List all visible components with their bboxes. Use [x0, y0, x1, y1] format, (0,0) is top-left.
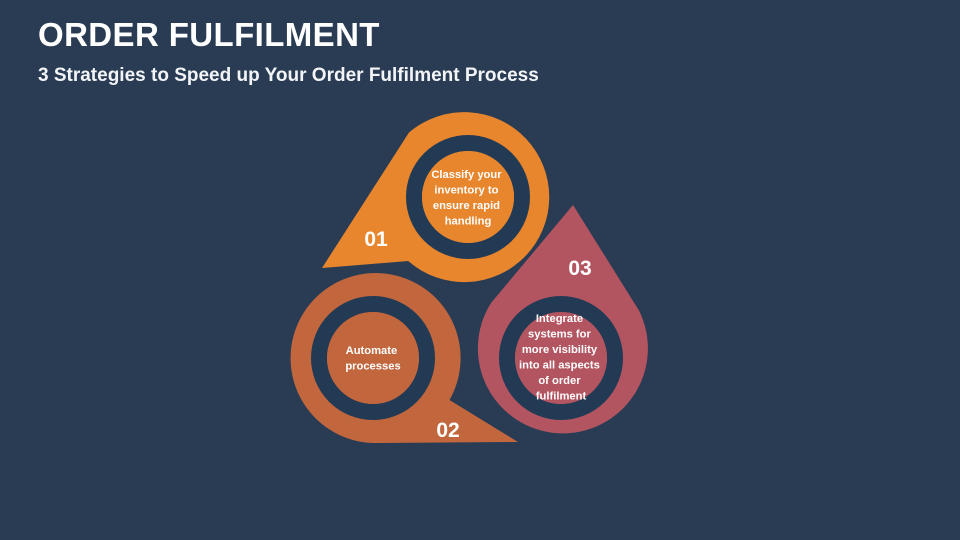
diagram-container: Classify your inventory to ensure rapid …: [0, 0, 960, 540]
step-03-line-4: into all aspects: [519, 360, 600, 372]
step-02-line-1: Automate: [346, 345, 398, 357]
step-01-line-1: Classify your: [431, 169, 502, 181]
step-03-number: 03: [568, 257, 591, 280]
step-01-line-3: ensure rapid: [433, 200, 500, 212]
step-03-line-2: systems for: [528, 329, 591, 341]
step-01-number: 01: [364, 228, 388, 251]
step-03-line-6: fulfilment: [536, 391, 587, 403]
step-01-line-4: handling: [445, 216, 492, 228]
step-02-number: 02: [436, 419, 459, 442]
step-01-inner-circle: [422, 151, 514, 243]
step-01-line-2: inventory to: [434, 185, 498, 197]
step-node-01[interactable]: Classify your inventory to ensure rapid …: [322, 112, 549, 282]
step-02-line-2: processes: [345, 361, 400, 373]
slide-canvas: ORDER FULFILMENT 3 Strategies to Speed u…: [0, 0, 960, 540]
step-03-line-1: Integrate: [536, 313, 583, 325]
step-03-line-3: more visibility: [522, 344, 598, 356]
step-02-inner-circle: [327, 312, 419, 404]
step-03-line-5: of order: [538, 375, 581, 387]
